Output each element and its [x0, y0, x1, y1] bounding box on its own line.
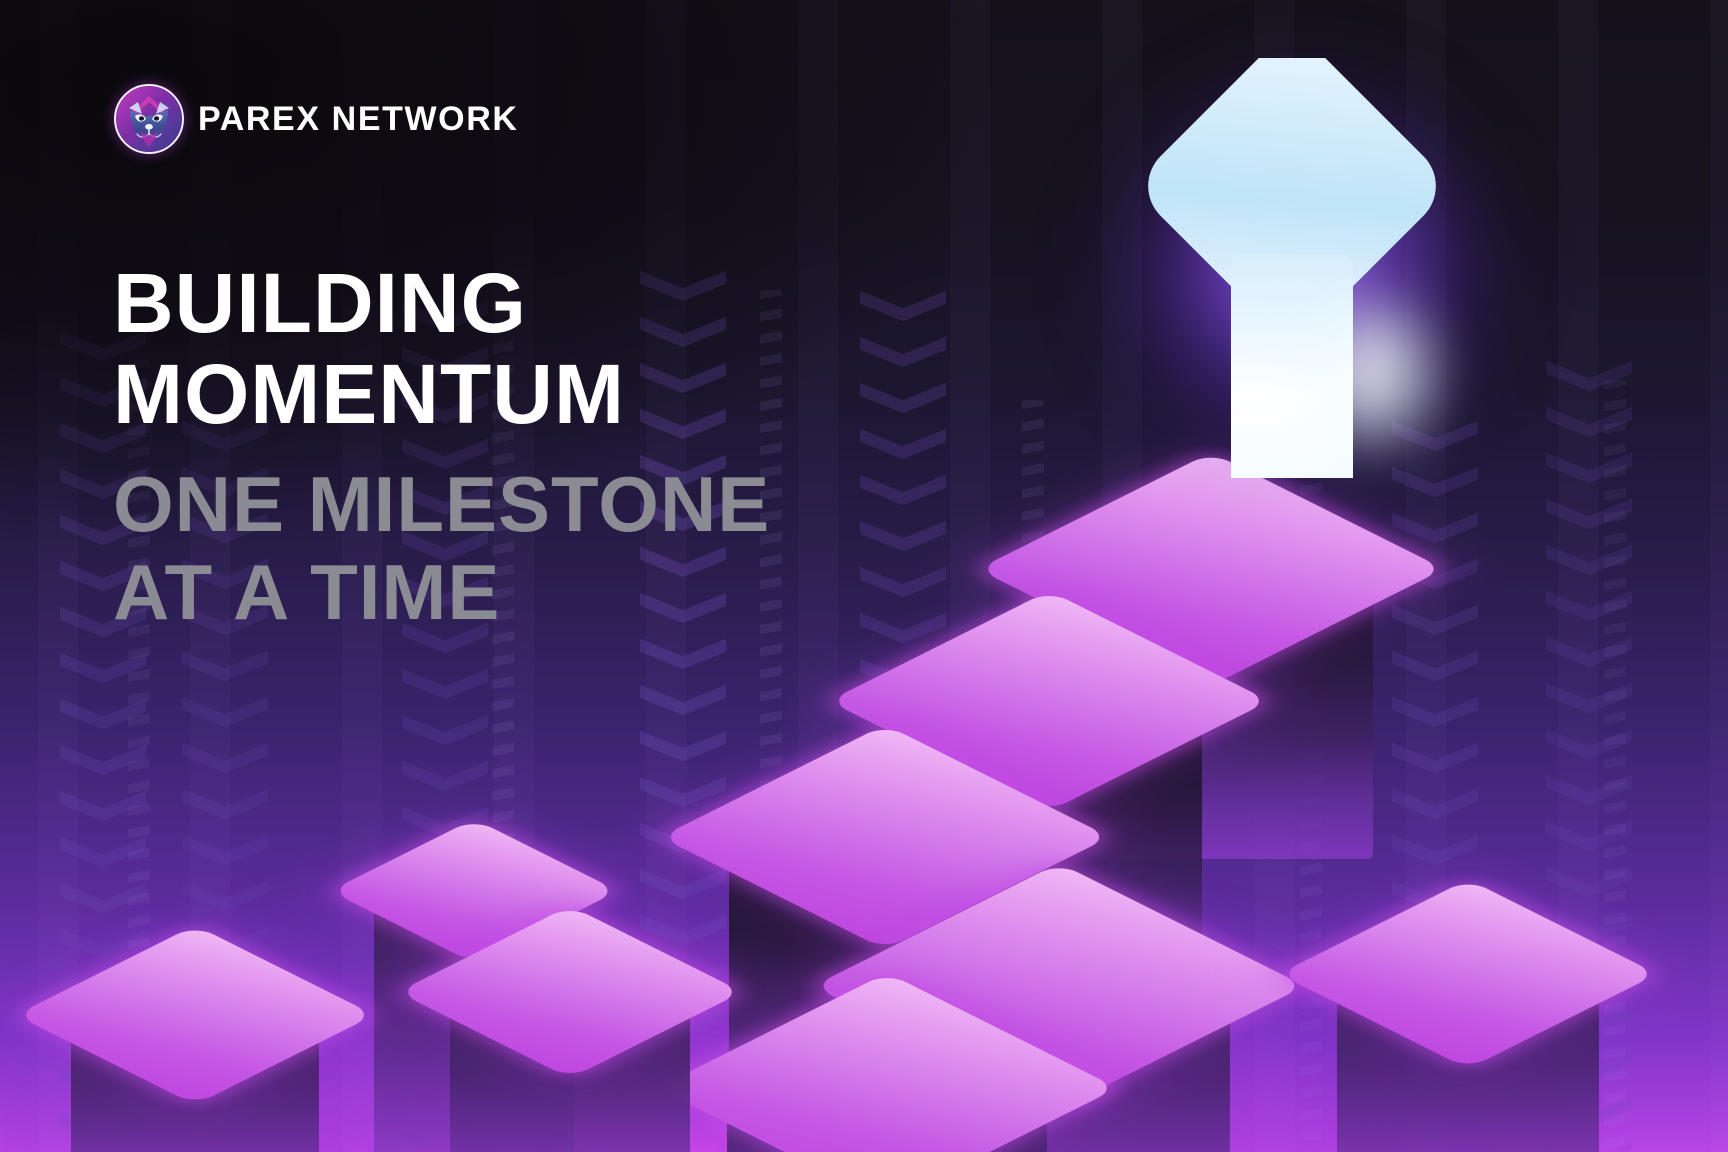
subhead-line-1: ONE MILESTONE: [113, 461, 1093, 548]
subhead-block: ONE MILESTONE AT A TIME: [113, 461, 1093, 636]
brand-lockup: PAREX NETWORK: [114, 84, 519, 154]
step-left-low: [448, 870, 692, 1114]
headline-line-1: BUILDING: [113, 258, 1093, 349]
brand-name-label: PAREX NETWORK: [198, 100, 519, 139]
step-right-edge: [1334, 840, 1602, 1108]
arrow-core-light: [1262, 248, 1482, 498]
step-top-face: [15, 925, 374, 1105]
headline-block: BUILDING MOMENTUM ONE MILESTONE AT A TIM…: [113, 258, 1093, 636]
step-left-edge: [68, 888, 322, 1142]
step-fifth: [724, 925, 1050, 1152]
step-top-face: [397, 906, 742, 1079]
subhead-line-2: AT A TIME: [113, 549, 1093, 636]
poster-canvas: PAREX NETWORK BUILDING MOMENTUM ONE MILE…: [0, 0, 1728, 1152]
step-top-face: [1278, 879, 1657, 1069]
headline-line-2: MOMENTUM: [113, 349, 1093, 440]
raccoon-head-icon: [114, 84, 184, 154]
upward-arrow-icon: [1112, 58, 1472, 478]
